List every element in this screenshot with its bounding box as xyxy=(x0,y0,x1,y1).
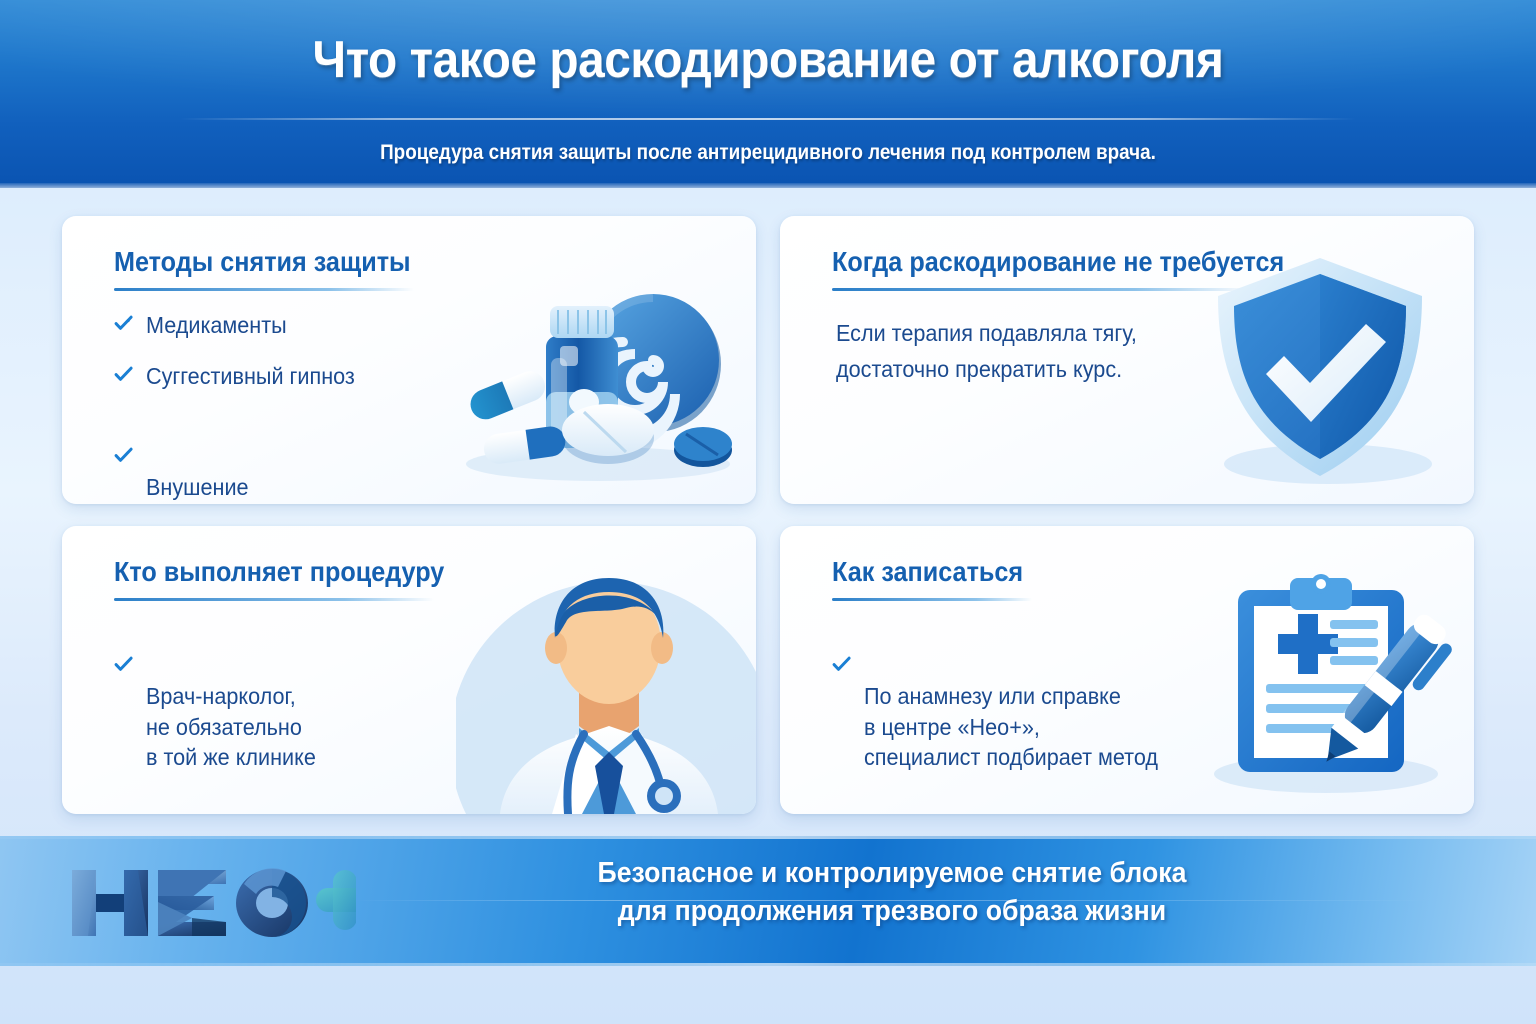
clipboard-pen-illustration xyxy=(1202,560,1452,800)
list-item-label: Врач-нарколог, не обязательно в той же к… xyxy=(146,683,316,770)
list-item: Внушение по системе Довженко xyxy=(114,411,424,504)
pills-and-spiral-illustration xyxy=(448,268,748,488)
page-title: Что такое раскодирование от алкоголя xyxy=(61,30,1474,90)
list-item: По анамнезу или справке в центре «Нео+»,… xyxy=(832,620,1208,773)
logo-plus-cross xyxy=(316,870,356,930)
card-title-underline xyxy=(114,598,434,601)
bullet-list-how-to-book: По анамнезу или справке в центре «Нео+»,… xyxy=(832,620,1232,793)
card-body-text: Если терапия подавляла тягу, достаточно … xyxy=(836,316,1174,387)
list-item-label: Суггестивный гипноз xyxy=(146,363,355,389)
page-subtitle: Процедура снятия защиты после антирециди… xyxy=(77,141,1459,165)
header-divider xyxy=(180,118,1356,120)
logo-letter-e xyxy=(158,870,226,936)
card-title-who-performs: Кто выполняет процедуру xyxy=(114,556,444,588)
footer-tagline-line-1: Безопасное и контролируемое снятие блока xyxy=(395,855,1389,893)
logo-letter-n xyxy=(72,870,148,936)
bullet-list-who-performs: Врач-нарколог, не обязательно в той же к… xyxy=(114,620,444,793)
card-who-performs: Кто выполняет процедуру Врач-нарколог, н… xyxy=(62,526,756,814)
footer-tagline-line-2: для продолжения трезвого образа жизни xyxy=(395,893,1389,931)
logo-letter-o xyxy=(236,868,308,937)
card-grid: Методы снятия защиты Медикаменты xyxy=(62,216,1474,814)
card-title-underline xyxy=(832,288,1252,291)
list-item: Врач-нарколог, не обязательно в той же к… xyxy=(114,620,424,773)
list-item: Суггестивный гипноз xyxy=(114,361,424,392)
header-banner: Что такое раскодирование от алкоголя Про… xyxy=(0,0,1536,188)
infographic-poster: Что такое раскодирование от алкоголя Про… xyxy=(0,0,1536,1024)
card-when-not-required: Когда раскодирование не требуется Если т… xyxy=(780,216,1474,504)
card-title-methods: Методы снятия защиты xyxy=(114,246,411,278)
footer-tagline: Безопасное и контролируемое снятие блока… xyxy=(352,855,1432,930)
doctor-illustration xyxy=(456,552,756,814)
card-title-underline xyxy=(832,598,1032,601)
check-icon xyxy=(114,365,133,385)
card-title-when-not-required: Когда раскодирование не требуется xyxy=(832,246,1284,278)
neo-plus-logo xyxy=(66,862,356,944)
check-icon xyxy=(114,624,133,644)
card-how-to-book: Как записаться По анамнезу или справке в… xyxy=(780,526,1474,814)
card-title-how-to-book: Как записаться xyxy=(832,556,1023,588)
list-item-label: Внушение по системе Довженко xyxy=(146,474,362,504)
list-item: Медикаменты xyxy=(114,310,424,341)
list-item-label: Медикаменты xyxy=(146,312,287,338)
check-icon xyxy=(114,314,133,334)
card-title-underline xyxy=(114,288,414,291)
check-icon xyxy=(114,415,133,435)
list-item-label: По анамнезу или справке в центре «Нео+»,… xyxy=(864,683,1158,770)
bullet-list-methods: Медикаменты Суггестивный гипноз xyxy=(114,310,444,504)
card-methods: Методы снятия защиты Медикаменты xyxy=(62,216,756,504)
check-icon xyxy=(832,624,851,644)
